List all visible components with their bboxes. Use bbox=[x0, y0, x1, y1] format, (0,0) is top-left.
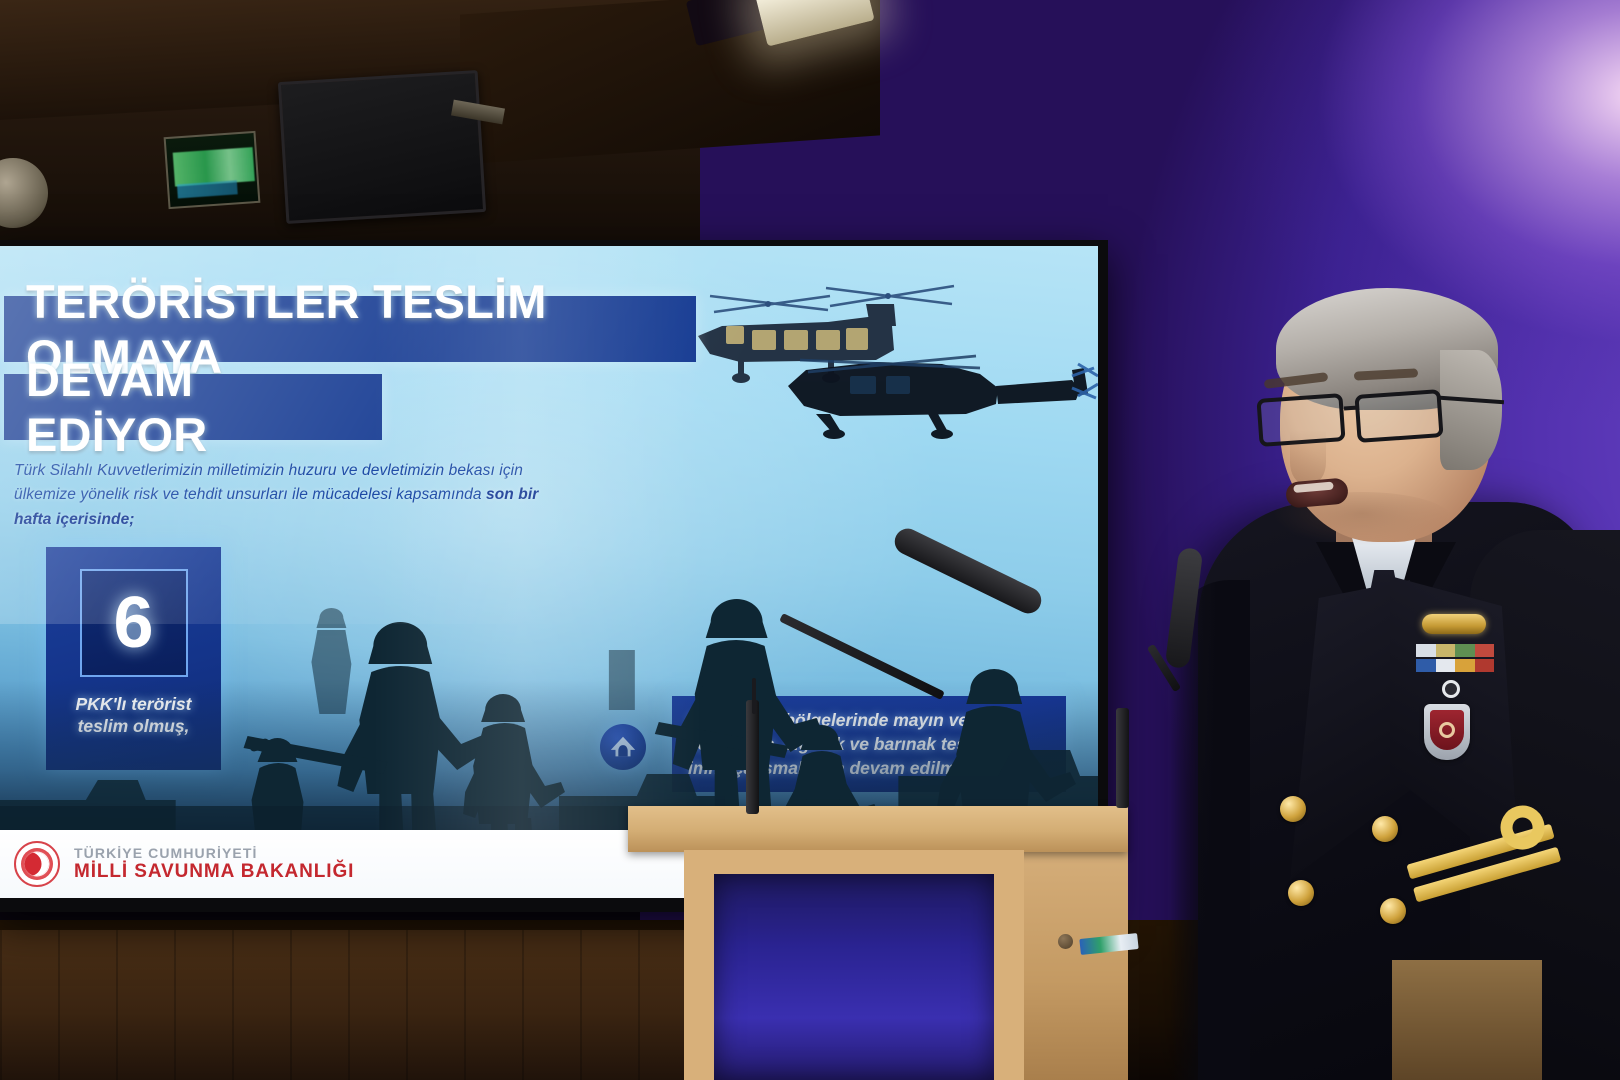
ribbon-5 bbox=[1416, 659, 1436, 672]
ribbon-4 bbox=[1475, 644, 1495, 657]
crescent-moon-icon bbox=[25, 852, 49, 876]
helicopter-imagery bbox=[680, 264, 1098, 444]
ribbon-row-top bbox=[1416, 644, 1494, 657]
service-ribbon-bar bbox=[1416, 644, 1494, 674]
gooseneck-microphone-left bbox=[732, 560, 1052, 820]
ministry-line-1: TÜRKİYE CUMHURİYETİ bbox=[74, 846, 354, 862]
msb-ministry-emblem bbox=[14, 841, 60, 887]
ribbon-8 bbox=[1475, 659, 1495, 672]
unit-badge-mark bbox=[1439, 722, 1455, 738]
wall-speaker-monitor bbox=[278, 70, 486, 224]
slide-title-line-2-text: DEVAM EDİYOR bbox=[4, 352, 382, 462]
teeth bbox=[1293, 482, 1334, 493]
body-regular-text: Türk Silahlı Kuvvetlerimizin milletimizi… bbox=[14, 462, 523, 503]
mic-base-right bbox=[1116, 708, 1129, 808]
unit-shield-badge bbox=[1424, 704, 1470, 760]
wooden-lectern bbox=[628, 806, 1128, 1080]
ribbon-6 bbox=[1436, 659, 1456, 672]
ribbon-row-bottom bbox=[1416, 659, 1494, 672]
exit-sign-glyph-lower bbox=[177, 180, 238, 198]
eyeglass-lens-right bbox=[1354, 389, 1443, 443]
ribbon-7 bbox=[1455, 659, 1475, 672]
officer-nose bbox=[1290, 430, 1326, 484]
qualification-pin bbox=[1442, 680, 1460, 698]
ministry-line-2: MİLLİ SAVUNMA BAKANLIĞI bbox=[74, 861, 354, 882]
exit-sign-glyph bbox=[173, 147, 255, 186]
ministry-name-block: TÜRKİYE CUMHURİYETİ MİLLİ SAVUNMA BAKANL… bbox=[74, 846, 354, 883]
submarine-dolphins-badge bbox=[1422, 614, 1486, 634]
ribbon-3 bbox=[1455, 644, 1475, 657]
ribbon-2 bbox=[1436, 644, 1456, 657]
uniform-button-1 bbox=[1280, 796, 1306, 822]
uniform-button-4 bbox=[1380, 898, 1406, 924]
mic-arm-left bbox=[779, 613, 945, 700]
ribbon-1 bbox=[1416, 644, 1436, 657]
emergency-exit-sign bbox=[164, 131, 261, 209]
mic-head-right bbox=[1165, 547, 1203, 669]
wood-panel-wall bbox=[0, 930, 700, 1080]
briefing-room-photo: TERÖRİSTLER TESLİM OLMAYA DEVAM EDİYOR T… bbox=[0, 0, 1620, 1080]
gooseneck-microphone-right bbox=[1092, 548, 1232, 828]
uniform-button-2 bbox=[1372, 816, 1398, 842]
lectern-knob bbox=[1058, 934, 1073, 949]
mic-base-left bbox=[746, 700, 759, 814]
lectern-wood-frame bbox=[684, 850, 1024, 1080]
eyeglass-temple bbox=[1440, 396, 1504, 404]
mic-cable-left bbox=[752, 678, 756, 714]
lectern-right-wing bbox=[1024, 832, 1128, 1080]
slide-title-line-2: DEVAM EDİYOR bbox=[4, 374, 382, 440]
lectern-lower-shelf bbox=[1392, 960, 1542, 1080]
uniform-button-3 bbox=[1288, 880, 1314, 906]
